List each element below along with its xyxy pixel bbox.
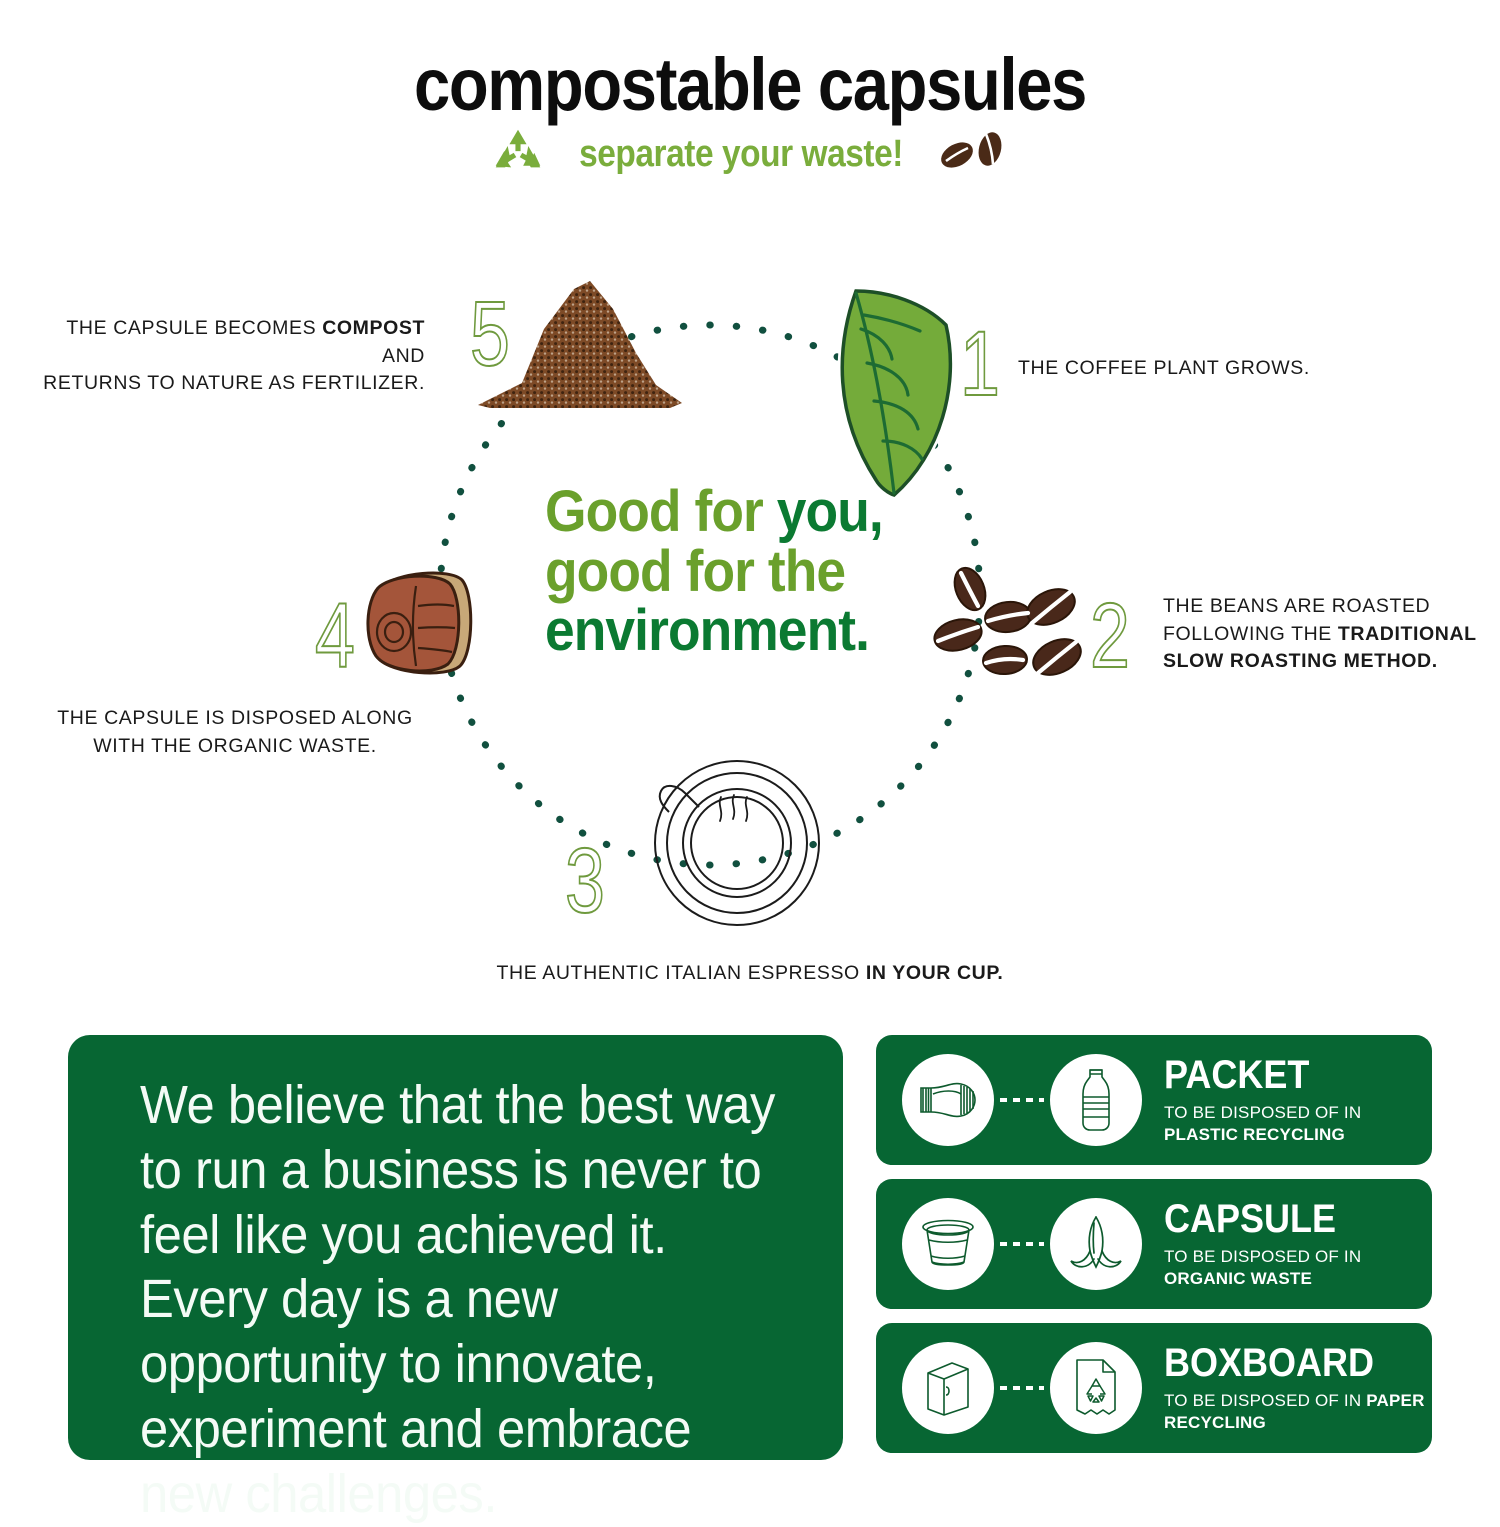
step-4-text: THE CAPSULE IS DISPOSED ALONGWITH THE OR…: [55, 705, 415, 760]
step-number-4: 4: [308, 590, 363, 682]
plastic-bottle-icon: [1050, 1054, 1142, 1146]
recycle-icon: [489, 128, 547, 181]
quote-text: We believe that the best way to run a bu…: [140, 1073, 789, 1527]
disposal-card-packet[interactable]: PACKET TO BE DISPOSED OF INPLASTIC RECYC…: [876, 1035, 1432, 1165]
disposal-cards: PACKET TO BE DISPOSED OF INPLASTIC RECYC…: [876, 1035, 1432, 1467]
header: compostable capsules s: [0, 48, 1500, 181]
packet-dashed-connector: [1000, 1098, 1044, 1102]
boxboard-dashed-connector: [1000, 1386, 1044, 1390]
step-number-3: 3: [558, 835, 613, 927]
coffee-capsule-icon: [358, 570, 478, 685]
slogan-good-for: Good for: [545, 479, 777, 544]
capsule-text-block: CAPSULE TO BE DISPOSED OF INORGANIC WAST…: [1164, 1199, 1361, 1289]
capsule-dashed-connector: [1000, 1242, 1044, 1246]
packet-text-block: PACKET TO BE DISPOSED OF INPLASTIC RECYC…: [1164, 1055, 1361, 1145]
cardboard-box-icon: [902, 1342, 994, 1434]
boxboard-text-block: BOXBOARD TO BE DISPOSED OF IN PAPERRECYC…: [1164, 1343, 1425, 1433]
coffee-beans-icon: [930, 565, 1090, 685]
page-title: compostable capsules: [90, 48, 1410, 122]
capsule-cup-icon: [902, 1198, 994, 1290]
lifecycle-diagram: Good for you, good for the environment. …: [0, 250, 1500, 1010]
quote-panel: We believe that the best way to run a bu…: [68, 1035, 843, 1460]
sachet-packet-icon: [902, 1054, 994, 1146]
header-subtitle-row: separate your waste!: [0, 128, 1500, 181]
step-3-text: THE AUTHENTIC ITALIAN ESPRESSO IN YOUR C…: [450, 960, 1050, 988]
step-1-text: THE COFFEE PLANT GROWS.: [1018, 355, 1358, 383]
step-2-text: THE BEANS ARE ROASTEDFOLLOWING THE TRADI…: [1163, 593, 1483, 676]
step-number-2: 2: [1083, 590, 1138, 682]
capsule-subtitle: TO BE DISPOSED OF INORGANIC WASTE: [1164, 1246, 1361, 1289]
step-5-text: THE CAPSULE BECOMES COMPOST ANDRETURNS T…: [20, 315, 425, 398]
step-number-1: 1: [953, 318, 1008, 410]
slogan-line-2: good for the: [545, 542, 913, 602]
packet-subtitle: TO BE DISPOSED OF INPLASTIC RECYCLING: [1164, 1102, 1361, 1145]
coffee-beans-icon: [935, 129, 1011, 180]
step-number-5: 5: [463, 288, 518, 380]
disposal-card-capsule[interactable]: CAPSULE TO BE DISPOSED OF INORGANIC WAST…: [876, 1179, 1432, 1309]
header-subtitle: separate your waste!: [579, 133, 903, 176]
espresso-cup-icon: [625, 755, 840, 935]
packet-title: PACKET: [1164, 1055, 1342, 1095]
capsule-title: CAPSULE: [1164, 1199, 1342, 1239]
disposal-card-boxboard[interactable]: BOXBOARD TO BE DISPOSED OF IN PAPERRECYC…: [876, 1323, 1432, 1453]
banana-peel-icon: [1050, 1198, 1142, 1290]
center-slogan: Good for you, good for the environment.: [545, 482, 913, 661]
slogan-line-3: environment.: [545, 601, 913, 661]
capsule-icon-pair: [902, 1198, 1142, 1290]
paper-recycling-icon: [1050, 1342, 1142, 1434]
boxboard-title: BOXBOARD: [1164, 1343, 1399, 1383]
packet-icon-pair: [902, 1054, 1142, 1146]
leaf-icon: [828, 285, 968, 505]
boxboard-subtitle: TO BE DISPOSED OF IN PAPERRECYCLING: [1164, 1390, 1425, 1433]
infographic-page: compostable capsules s: [0, 0, 1500, 1500]
boxboard-icon-pair: [902, 1342, 1142, 1434]
